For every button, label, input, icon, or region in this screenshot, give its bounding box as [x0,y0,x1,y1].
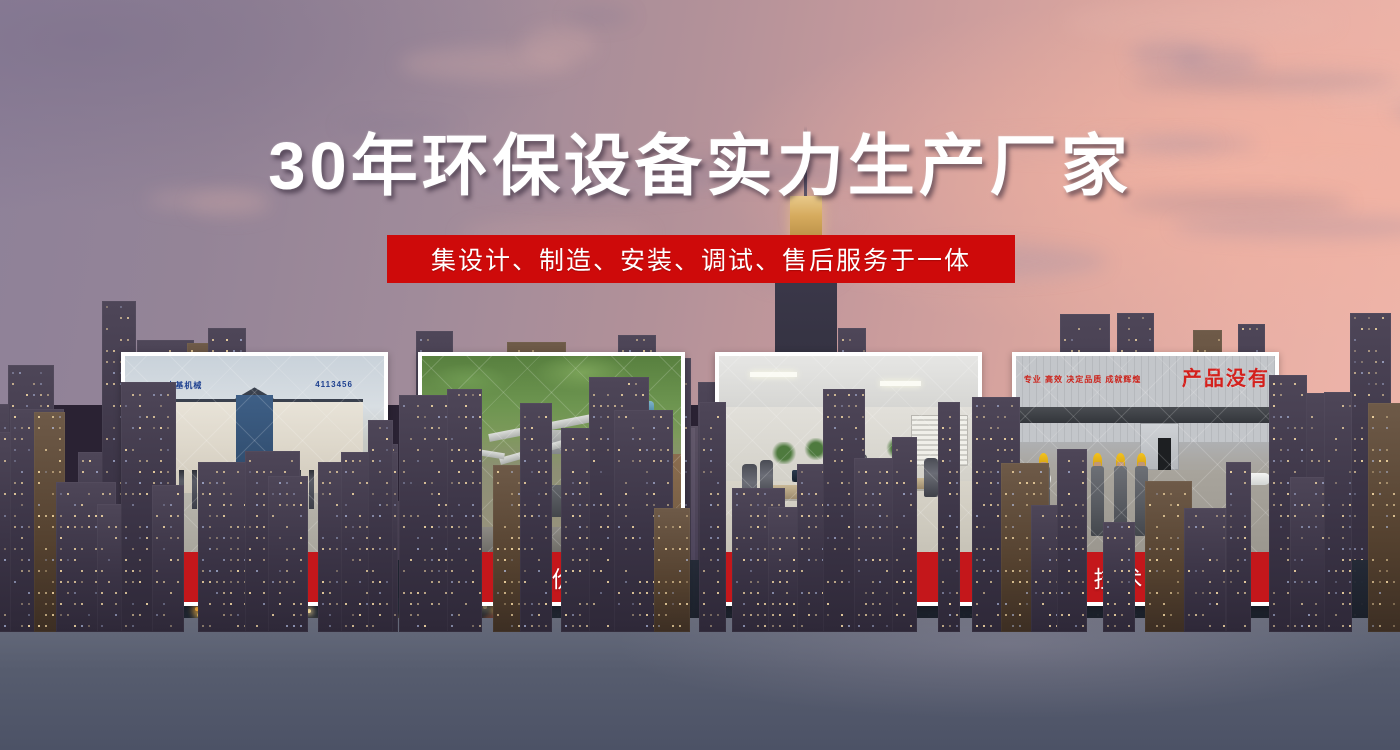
subtitle-banner: 集设计、制造、安装、调试、售后服务于一体 [387,235,1015,283]
subtitle-text: 集设计、制造、安装、调试、售后服务于一体 [431,241,971,277]
promo-banner: 30年环保设备实力生产厂家 集设计、制造、安装、调试、售后服务于一体 中基机械 … [0,0,1400,750]
river-sheen [0,618,1400,750]
building-phone-text: 4113456 [315,380,353,389]
page-title: 30年环保设备实力生产厂家 [0,133,1400,200]
factory-wall-slogan: 产品没有 [1182,362,1270,391]
factory-wall-slogan-small: 专业 高效 决定品质 成就辉煌 [1024,374,1142,386]
